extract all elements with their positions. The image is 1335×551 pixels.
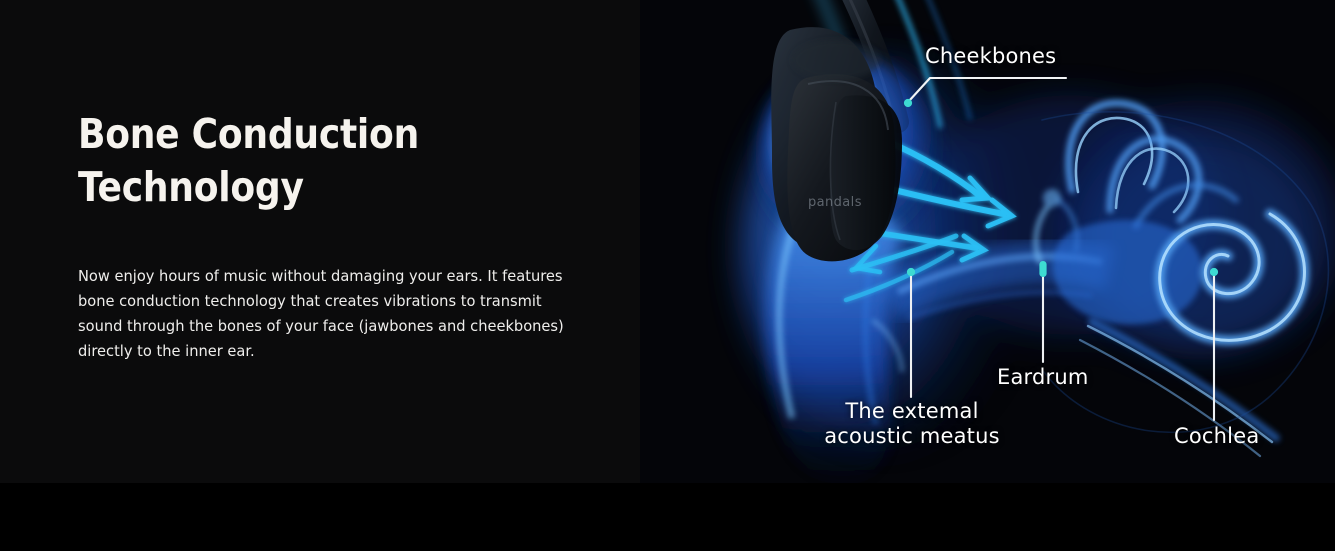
banner-stage: pandals [0, 0, 1335, 483]
banner-footer-strip [0, 483, 1335, 551]
label-external-acoustic-meatus: The extemal acoustic meatus [816, 399, 1008, 449]
device-brand-mark: pandals [808, 195, 862, 210]
label-eardrum: Eardrum [997, 365, 1089, 390]
label-cheekbones: Cheekbones [925, 44, 1056, 69]
bone-conduction-banner: pandals [0, 0, 1335, 551]
page-title: Bone Conduction Technology [78, 108, 588, 215]
body-paragraph: Now enjoy hours of music without damagin… [78, 215, 629, 364]
copy-block: Bone Conduction Technology Now enjoy hou… [78, 108, 658, 364]
label-cochlea: Cochlea [1174, 424, 1259, 449]
